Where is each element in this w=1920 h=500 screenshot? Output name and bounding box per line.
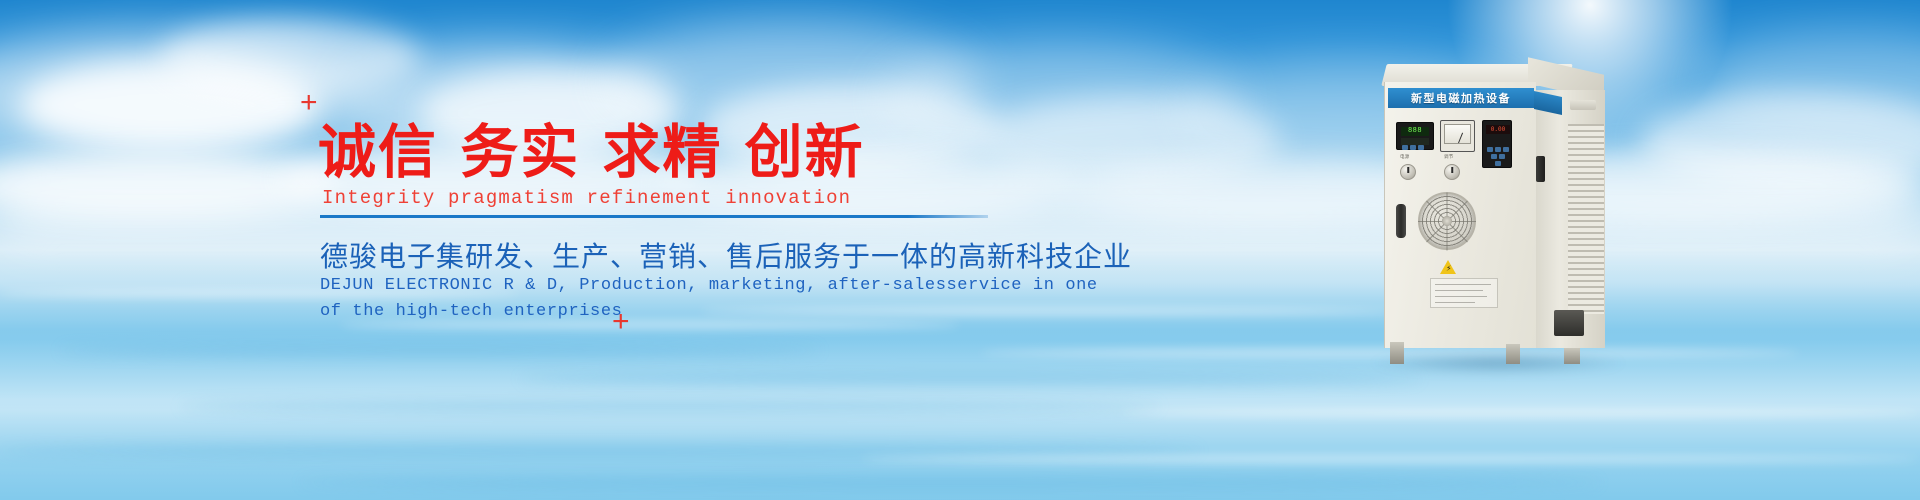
fan-grille	[1418, 192, 1476, 250]
meter-dial-face	[1444, 124, 1471, 144]
keypad-controller-panel: 0.00	[1482, 120, 1512, 168]
adjust-knob	[1444, 164, 1460, 180]
machine-foot	[1390, 342, 1404, 364]
analog-meter-panel	[1440, 120, 1475, 152]
headline-english: Integrity pragmatism refinement innovati…	[322, 187, 851, 209]
knob-left-label: 电源	[1400, 154, 1410, 160]
description-english-line-1: DEJUN ELECTRONIC R & D, Production, mark…	[320, 276, 1098, 295]
digital-display-value: 888	[1401, 127, 1429, 136]
power-knob	[1400, 164, 1416, 180]
machine-foot	[1506, 344, 1520, 364]
spec-plate	[1430, 278, 1498, 308]
side-handle	[1536, 156, 1545, 182]
knob-right-label: 调节	[1444, 154, 1454, 160]
digital-controller-panel: 888	[1396, 122, 1434, 150]
digital-display-secondary	[1401, 138, 1429, 145]
divider-rule	[320, 215, 988, 218]
description-english-line-2: of the high-tech enterprises	[320, 302, 622, 321]
description-chinese: 德骏电子集研发、生产、营销、售后服务于一体的高新科技企业	[320, 235, 1132, 275]
product-image-heating-machine: 新型电磁加热设备 888 0.00	[1378, 64, 1608, 364]
machine-foot	[1564, 348, 1580, 364]
keypad-display-value: 0.00	[1486, 125, 1510, 134]
vent-cap	[1570, 100, 1596, 110]
keypad-buttons	[1487, 147, 1509, 165]
headline-chinese: 诚信 务实 求精 创新	[318, 122, 865, 183]
side-vent-slats	[1568, 124, 1604, 314]
lower-side-box	[1554, 310, 1584, 336]
front-handle	[1396, 204, 1406, 238]
hero-banner: + + 诚信 务实 求精 创新 Integrity pragmatism ref…	[0, 0, 1920, 500]
machine-label-banner: 新型电磁加热设备	[1388, 88, 1534, 108]
meter-needle	[1458, 133, 1463, 144]
warning-bolt-icon: ⚡	[1446, 265, 1452, 273]
plus-decoration-icon: +	[300, 88, 318, 118]
